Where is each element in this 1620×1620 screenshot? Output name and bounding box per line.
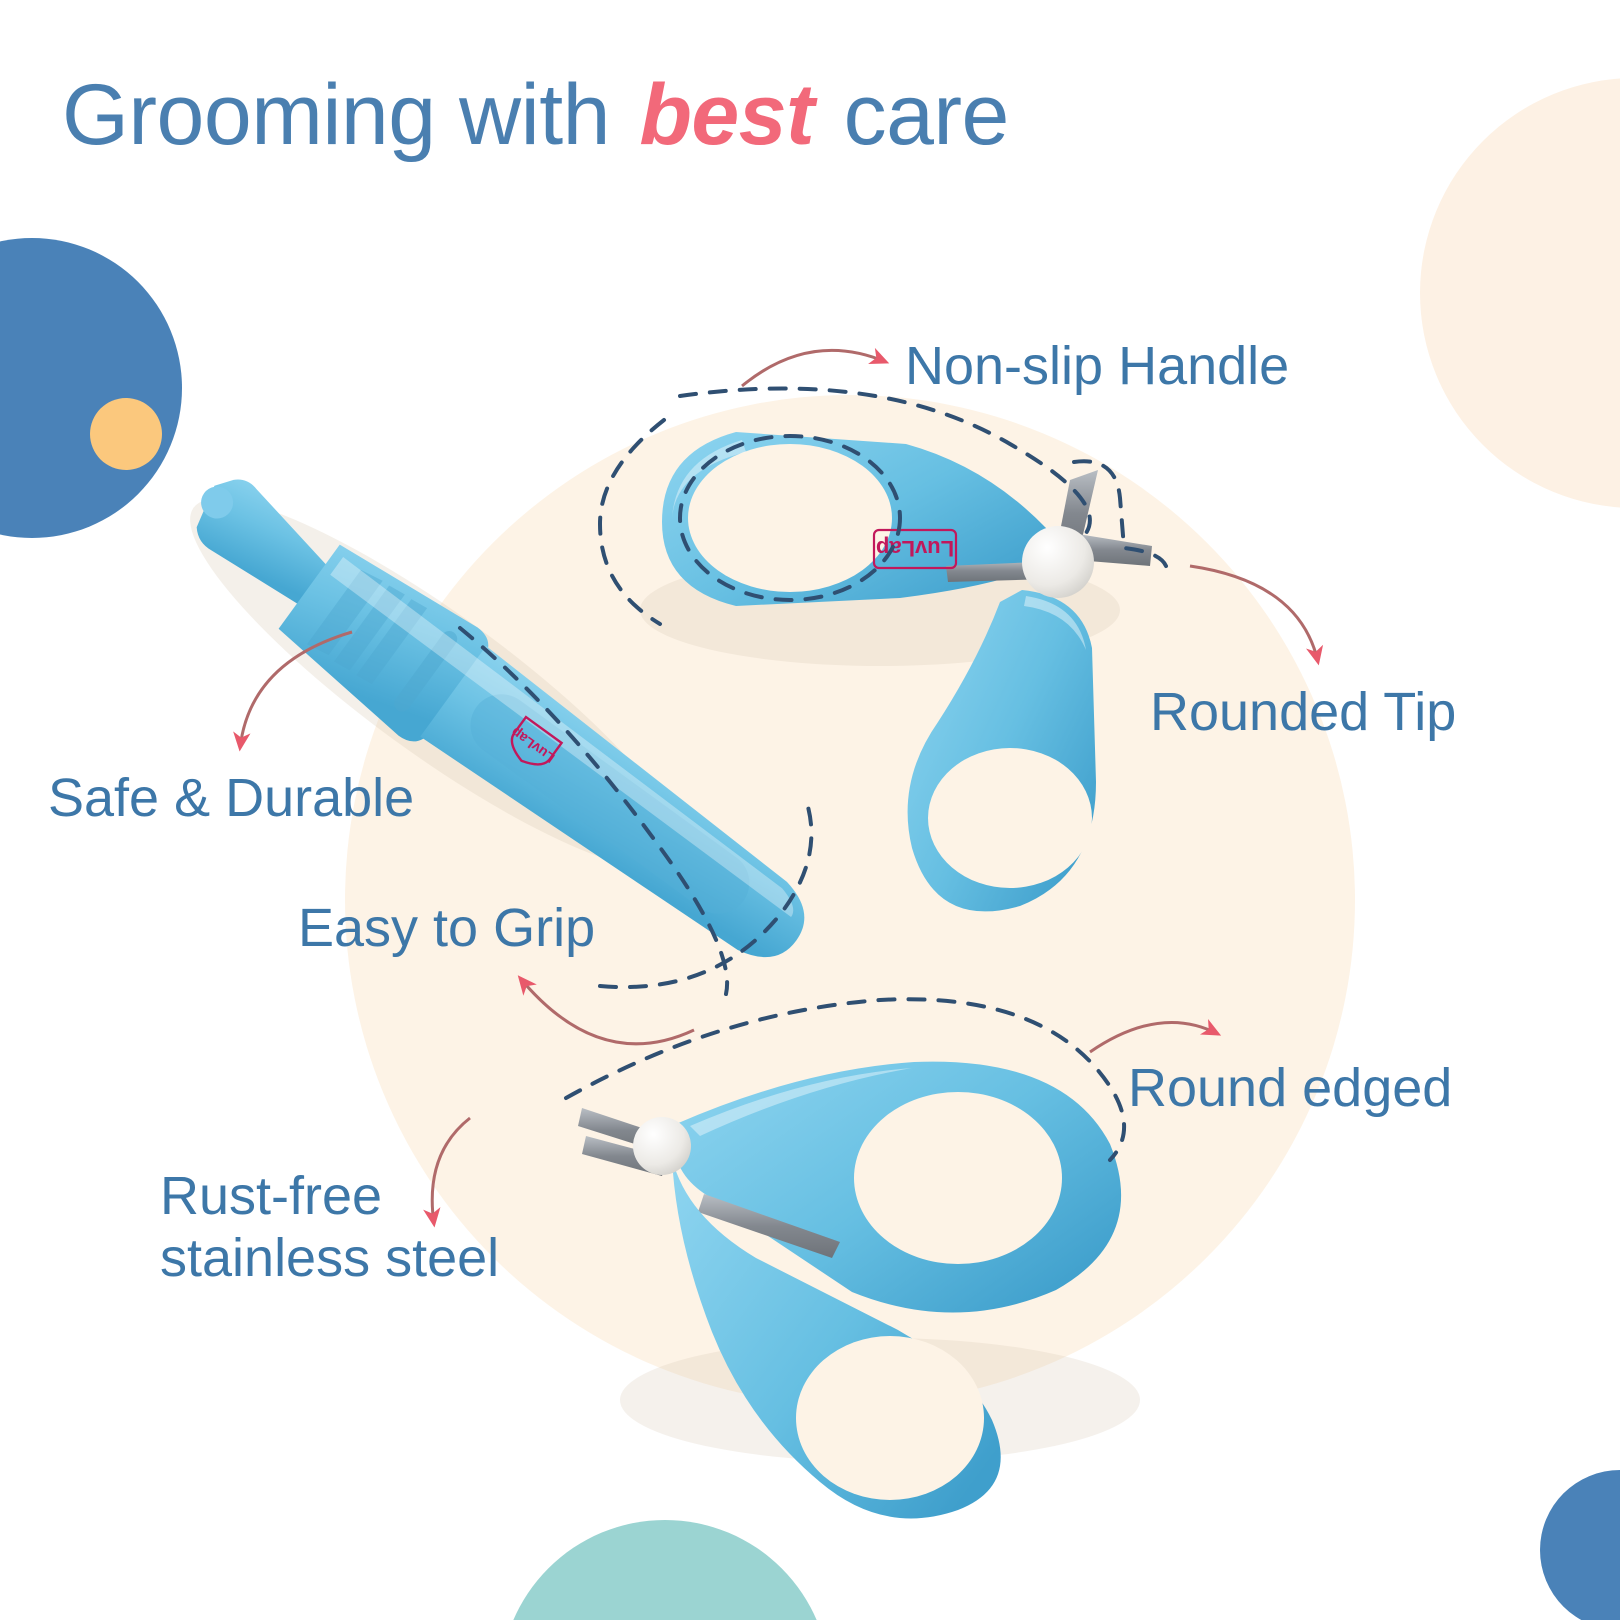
scissors-lower-finger-ring — [928, 748, 1092, 888]
title-part-1: Grooming with — [62, 67, 633, 163]
scissors-upper-finger-ring — [688, 444, 892, 592]
label-easy-to-grip: Easy to Grip — [298, 898, 595, 960]
baby-scissors-bottom — [578, 1062, 1140, 1519]
scissors-pivot-upper — [1022, 526, 1094, 598]
title-part-2: care — [820, 67, 1009, 163]
baby-scissors-pivot — [633, 1117, 691, 1175]
label-rounded-tip: Rounded Tip — [1150, 682, 1456, 744]
label-rust-free: Rust-free stainless steel — [160, 1166, 499, 1289]
infographic-canvas: LuvLap — [0, 0, 1620, 1620]
page-title: Grooming with best care — [62, 72, 1009, 158]
title-highlight: best — [633, 67, 820, 163]
label-safe-durable: Safe & Durable — [48, 768, 414, 830]
label-non-slip-handle: Non-slip Handle — [905, 336, 1289, 398]
label-round-edged: Round edged — [1128, 1058, 1452, 1120]
baby-scissors-upper-ring — [854, 1092, 1062, 1264]
baby-scissors-lower-ring — [796, 1336, 984, 1500]
